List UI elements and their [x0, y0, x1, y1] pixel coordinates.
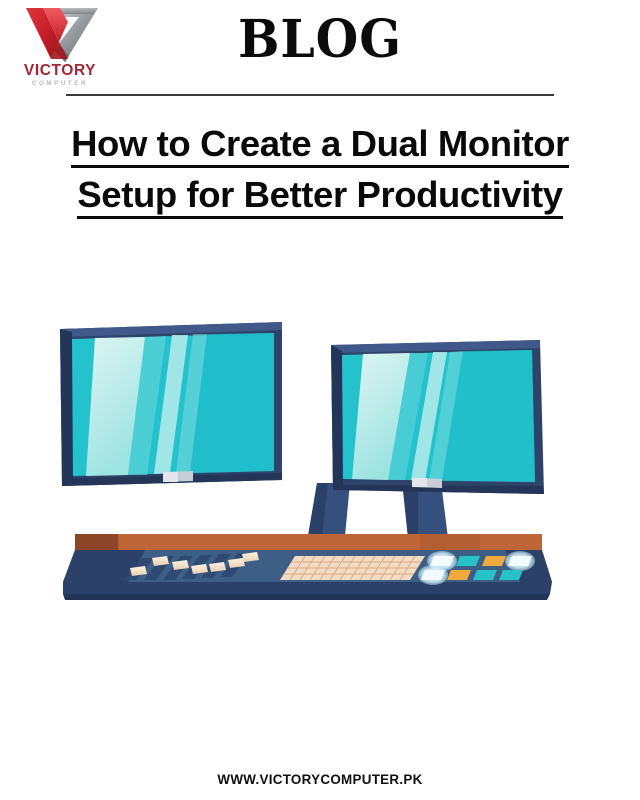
console-deck	[63, 550, 552, 600]
pad-bottom-1	[421, 570, 445, 580]
pad-bottom-4	[499, 570, 523, 580]
keyboard	[280, 556, 425, 580]
pad-top-4	[508, 556, 532, 566]
blog-cover-page: VICTORY COMPUTER BLOG How to Create a Du…	[0, 0, 640, 800]
article-headline: How to Create a Dual Monitor Setup for B…	[0, 118, 640, 220]
pad-bottom-2	[447, 570, 471, 580]
pad-bottom-3	[473, 570, 497, 580]
page-header: VICTORY COMPUTER BLOG	[0, 0, 640, 100]
desk-surface	[75, 534, 542, 552]
pad-top-1	[430, 556, 454, 566]
dual-monitor-desk-illustration	[50, 318, 580, 613]
headline-line-1: How to Create a Dual Monitor	[0, 118, 640, 169]
brand-subtitle: COMPUTER	[8, 81, 112, 87]
pad-top-2	[456, 556, 480, 566]
pad-top-3	[482, 556, 506, 566]
footer-website: WWW.VICTORYCOMPUTER.PK	[0, 772, 640, 787]
left-monitor	[60, 322, 350, 536]
header-divider	[66, 94, 554, 96]
headline-line-2: Setup for Better Productivity	[0, 169, 640, 220]
right-monitor	[331, 340, 544, 538]
page-title: BLOG	[19, 14, 621, 66]
